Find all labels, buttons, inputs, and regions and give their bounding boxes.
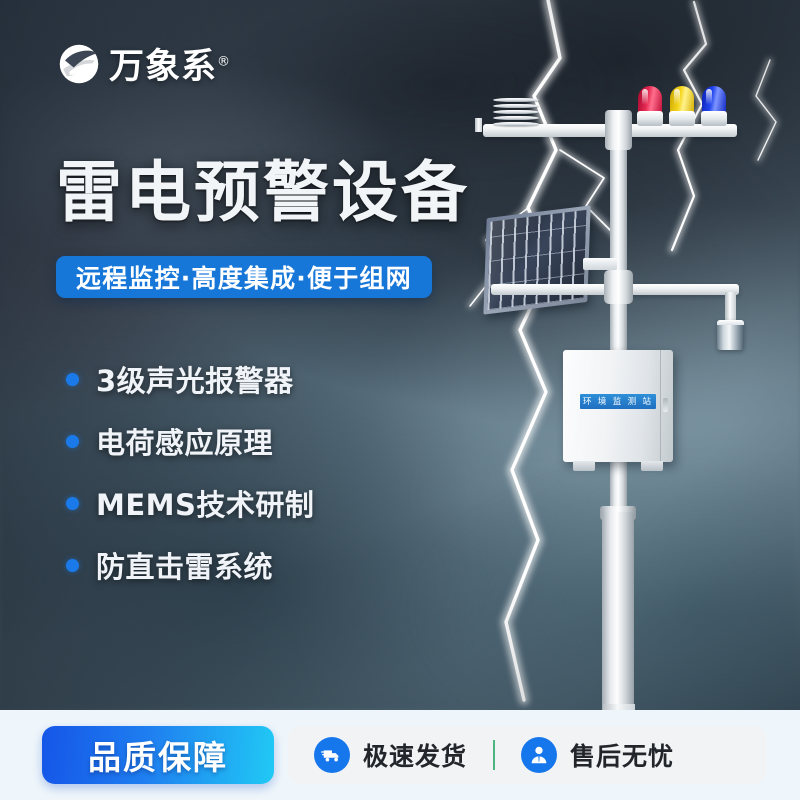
service-label: 极速发货 bbox=[363, 737, 467, 773]
shield-stem bbox=[475, 118, 482, 132]
feature-label: 3级声光报警器 bbox=[96, 358, 294, 400]
sensor-arm-left bbox=[491, 284, 613, 295]
mast-hub-lower bbox=[604, 270, 633, 304]
red-alarm-lamp bbox=[637, 86, 663, 128]
brand-name: 万象系® bbox=[109, 38, 231, 89]
service-item-shipping: 极速发货 bbox=[288, 737, 493, 773]
feature-item: 防直击雷系统 bbox=[66, 534, 314, 596]
bullet-dot-icon bbox=[66, 435, 79, 448]
bullet-dot-icon bbox=[66, 559, 79, 572]
brand-logo: 万象系® bbox=[58, 38, 231, 89]
feature-item: 3级声光报警器 bbox=[66, 348, 314, 410]
registered-mark: ® bbox=[217, 54, 231, 69]
controller-enclosure: 环 境 监 测 站 bbox=[563, 350, 673, 462]
support-agent-icon bbox=[521, 737, 557, 773]
bullet-dot-icon bbox=[66, 373, 79, 386]
feature-label: 电荷感应原理 bbox=[96, 420, 273, 462]
bullet-dot-icon bbox=[66, 497, 79, 510]
enclosure-latch-icon bbox=[663, 398, 668, 412]
promo-poster: 环 境 监 测 站 万象系® 雷电预警设备 远程监控·高度集成·便于组网 3级声… bbox=[0, 0, 800, 800]
sensor-arm-right bbox=[615, 284, 739, 295]
solar-panel bbox=[483, 205, 590, 314]
brand-name-text: 万象系 bbox=[109, 47, 217, 87]
radiation-shield-sensor bbox=[493, 98, 539, 130]
solar-panel-mount bbox=[583, 258, 617, 270]
service-label: 售后无忧 bbox=[570, 737, 674, 773]
enclosure-label: 环 境 监 测 站 bbox=[580, 394, 656, 409]
feature-label: 防直击雷系统 bbox=[96, 544, 273, 586]
subtitle-pill-text: 远程监控·高度集成·便于组网 bbox=[76, 259, 412, 295]
blue-alarm-lamp bbox=[701, 86, 727, 128]
yellow-alarm-lamp bbox=[669, 86, 695, 128]
trust-banner: 品质保障 极速发货 bbox=[0, 710, 800, 800]
quality-badge-label: 品质保障 bbox=[88, 731, 228, 779]
service-strip: 极速发货 售后无忧 bbox=[288, 726, 766, 784]
page-title: 雷电预警设备 bbox=[56, 160, 470, 226]
delivery-truck-icon bbox=[314, 737, 350, 773]
support-mast-lower bbox=[602, 512, 634, 726]
service-divider bbox=[493, 740, 495, 770]
service-item-aftersales: 售后无忧 bbox=[495, 737, 700, 773]
rain-gauge-sensor bbox=[717, 320, 744, 350]
mast-hub-upper bbox=[605, 110, 632, 150]
quality-badge: 品质保障 bbox=[42, 726, 274, 784]
feature-label: MEMS技术研制 bbox=[96, 482, 314, 524]
subtitle-pill: 远程监控·高度集成·便于组网 bbox=[56, 256, 432, 298]
brand-mark-icon bbox=[58, 43, 100, 85]
feature-item: MEMS技术研制 bbox=[66, 472, 314, 534]
feature-item: 电荷感应原理 bbox=[66, 410, 314, 472]
product-weather-station: 环 境 监 测 站 bbox=[455, 88, 785, 698]
feature-list: 3级声光报警器 电荷感应原理 MEMS技术研制 防直击雷系统 bbox=[66, 348, 314, 596]
